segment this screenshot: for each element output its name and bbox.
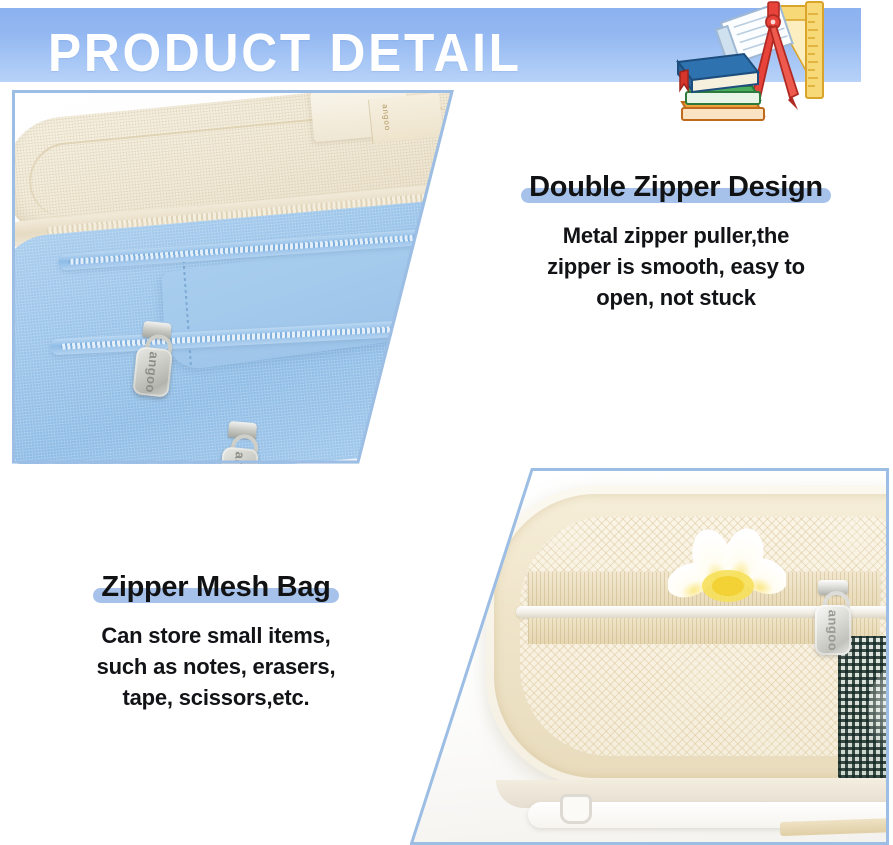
zipper-tag: angoo	[815, 605, 851, 655]
plumeria-flower	[668, 524, 786, 610]
body-line: open, not stuck	[496, 282, 856, 313]
heading-text: Double Zipper Design	[529, 171, 823, 203]
body-mesh-bag: Can store small items, such as notes, er…	[36, 620, 396, 713]
body-line: such as notes, erasers,	[36, 651, 396, 682]
photo2-scene: angoo	[410, 468, 889, 845]
page-title: PRODUCT DETAIL	[48, 26, 522, 80]
brand-label: angoo	[368, 92, 443, 143]
school-supplies-icon	[652, 0, 852, 150]
zipper-tag: angoo	[219, 446, 259, 464]
mesh-highlight	[868, 666, 889, 756]
product-photo-double-zipper: angoo angoo angoo	[12, 90, 454, 464]
zipper-tag: angoo	[132, 346, 173, 398]
zipper-tag-brand: angoo	[826, 609, 841, 651]
zipper-puller-lower: angoo	[217, 420, 263, 464]
lid-zipper-clip	[560, 794, 592, 824]
body-line: zipper is smooth, easy to	[496, 251, 856, 282]
photo1-scene: angoo angoo angoo	[12, 90, 454, 464]
zipper-tag-brand: angoo	[143, 351, 162, 394]
mesh-zipper-puller: angoo	[814, 580, 854, 658]
heading-text: Zipper Mesh Bag	[101, 571, 330, 603]
section-text-double-zipper: Double Zipper Design Metal zipper puller…	[496, 170, 856, 313]
body-double-zipper: Metal zipper puller,the zipper is smooth…	[496, 220, 856, 313]
body-line: tape, scissors,etc.	[36, 682, 396, 713]
heading-mesh-bag: Zipper Mesh Bag	[101, 570, 330, 604]
product-photo-mesh-bag: angoo	[410, 468, 889, 845]
section-text-mesh-bag: Zipper Mesh Bag Can store small items, s…	[36, 570, 396, 713]
body-line: Can store small items,	[36, 620, 396, 651]
brand-label-text: angoo	[380, 104, 392, 132]
zipper-tag-brand: angoo	[230, 451, 249, 464]
heading-double-zipper: Double Zipper Design	[529, 170, 823, 204]
body-line: Metal zipper puller,the	[496, 220, 856, 251]
mesh-bag-shell: angoo	[486, 486, 889, 786]
zipper-puller-upper: angoo	[130, 320, 178, 398]
bottom-fabric-strip	[780, 818, 889, 836]
